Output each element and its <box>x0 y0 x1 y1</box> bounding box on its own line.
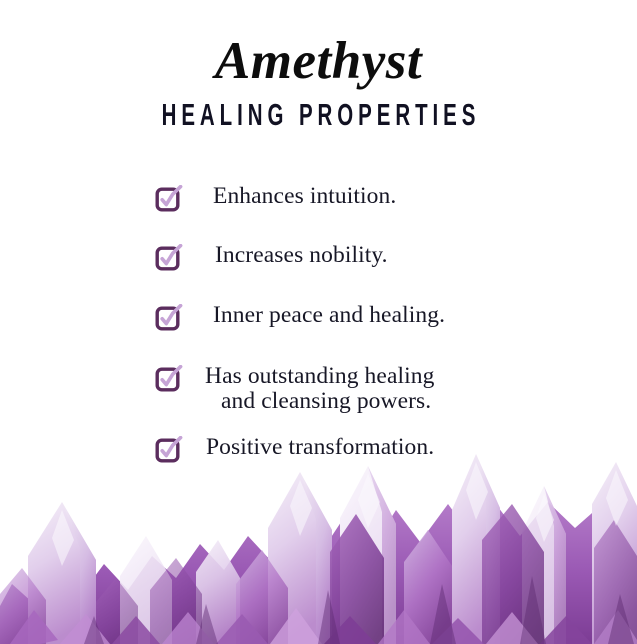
list-item-label: Has outstanding healing and cleansing po… <box>199 363 434 414</box>
header: Amethyst HEALING PROPERTIES <box>0 0 637 130</box>
checked-checkbox-icon[interactable] <box>155 185 185 213</box>
list-item[interactable]: Increases nobility. <box>155 242 575 272</box>
list-item[interactable]: Has outstanding healing and cleansing po… <box>155 363 575 414</box>
healing-properties-list: Enhances intuition. Increases nobility. <box>155 183 575 464</box>
list-item[interactable]: Enhances intuition. <box>155 183 575 213</box>
page-title: Amethyst <box>0 0 637 90</box>
list-item-label: Increases nobility. <box>199 242 388 268</box>
list-item-label: Enhances intuition. <box>199 183 396 209</box>
amethyst-healing-properties-card: Amethyst HEALING PROPERTIES Enhances int… <box>0 0 637 644</box>
checked-checkbox-icon[interactable] <box>155 365 185 393</box>
page-subtitle: HEALING PROPERTIES <box>108 90 528 130</box>
list-item-label: Inner peace and healing. <box>199 302 445 328</box>
checked-checkbox-icon[interactable] <box>155 304 185 332</box>
list-item[interactable]: Inner peace and healing. <box>155 302 575 332</box>
checked-checkbox-icon[interactable] <box>155 244 185 272</box>
amethyst-crystal-cluster-photo <box>0 444 637 644</box>
